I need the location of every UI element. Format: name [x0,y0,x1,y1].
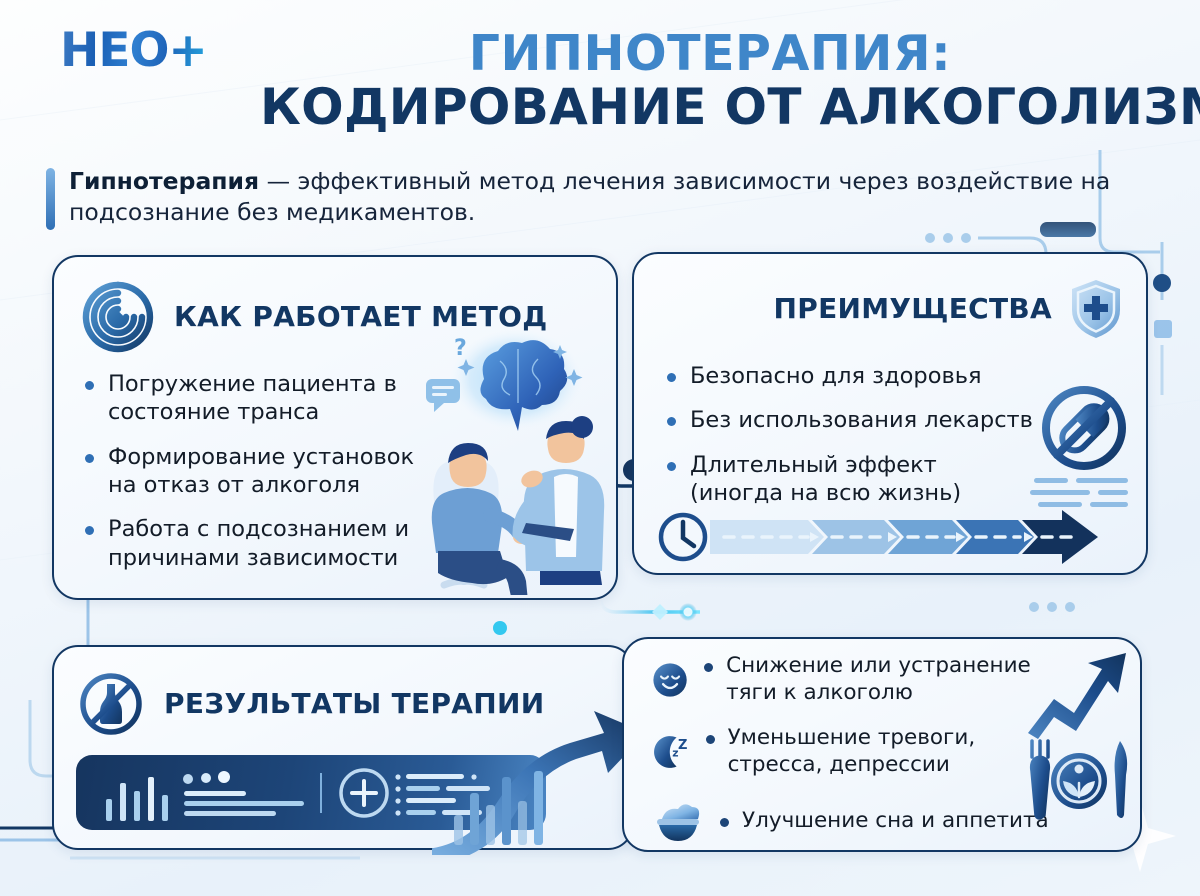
benefits-card-header: ПРЕИМУЩЕСТВА [774,278,1124,340]
list-item: Погружение пациента в состояние транса [82,370,442,427]
list-item: Улучшение сна и аппетита [652,795,1072,847]
results-card-header: РЕЗУЛЬТАТЫ ТЕРАПИИ [78,671,544,737]
list-item: Снижение или устранение тяги к алкоголю [652,653,1072,706]
list-item: Безопасно для здоровья [664,362,1034,390]
list-item: z Z Уменьшение тревоги, стресса, депресс… [652,725,1072,778]
subtitle-text: Гипнотерапия — эффективный метод лечения… [69,166,1116,230]
plus-circle-icon [341,770,387,816]
results-stats-banner [76,755,546,830]
results-card-title: РЕЗУЛЬТАТЫ ТЕРАПИИ [164,689,544,720]
list-item-label: Снижение или устранение тяги к алкоголю [702,653,1072,706]
list-item: Без использования лекарств [664,406,1034,434]
title-line-2: КОДИРОВАНИЕ ОТ АЛКОГОЛИЗМА [260,79,1160,135]
card-therapy-results[interactable]: РЕЗУЛЬТАТЫ ТЕРАПИИ [52,645,634,850]
no-alcohol-icon [78,671,144,737]
method-card-title-text: КАК РАБОТАЕТ МЕТОД [174,300,548,333]
spiral-hypnosis-icon [80,279,156,355]
list-item: Формирование установок на отказ от алког… [82,443,442,500]
card-benefits[interactable]: ПРЕИМУЩЕСТВА Безопасно для здоровья Без … [632,252,1148,575]
shield-cross-icon [1068,278,1124,340]
food-bowl-icon [652,795,704,847]
card-how-method-works[interactable]: КАК РАБОТАЕТ МЕТОД Погружение пациента в… [52,255,618,600]
subtitle-lead: Гипнотерапия [69,167,259,195]
benefits-card-title: ПРЕИМУЩЕСТВА [774,294,1052,325]
page-title: ГИПНОТЕРАПИЯ: КОДИРОВАНИЕ ОТ АЛКОГОЛИЗМА [260,28,1160,135]
method-bullet-list: Погружение пациента в состояние транса Ф… [82,370,442,588]
stats-banner-graphics [76,755,546,830]
moon-sleep-icon: z Z [652,726,690,778]
svg-text:Z: Z [678,738,687,753]
method-card-title: КАК РАБОТАЕТ МЕТОД [174,302,548,333]
therapy-session-illustration: ? [422,327,622,595]
list-item-label: Уменьшение тревоги, стресса, депрессии [704,725,1072,778]
list-item: Длительный эффект (иногда на всю жизнь) [664,451,1034,508]
calm-face-icon [652,654,688,706]
method-card-header: КАК РАБОТАЕТ МЕТОД [80,279,548,355]
infographic-root: HEO+ ГИПНОТЕРАПИЯ: КОДИРОВАНИЕ ОТ АЛКОГО… [0,0,1200,896]
title-line-1: ГИПНОТЕРАПИЯ: [260,28,1160,79]
subtitle-accent-bar [46,168,55,230]
card-results-list[interactable]: Снижение или устранение тяги к алкоголю … [622,637,1142,852]
benefits-bullet-list: Безопасно для здоровья Без использования… [664,362,1034,523]
list-item-label: Улучшение сна и аппетита [718,808,1049,835]
header: HEO+ ГИПНОТЕРАПИЯ: КОДИРОВАНИЕ ОТ АЛКОГО… [0,0,1200,160]
subtitle: Гипнотерапия — эффективный метод лечения… [46,166,1116,230]
no-pills-icon [1036,380,1132,476]
brand-logo[interactable]: HEO+ [60,27,207,74]
list-item: Работа с подсознанием и причинами зависи… [82,515,442,572]
text-lines-decoration [1026,476,1136,516]
